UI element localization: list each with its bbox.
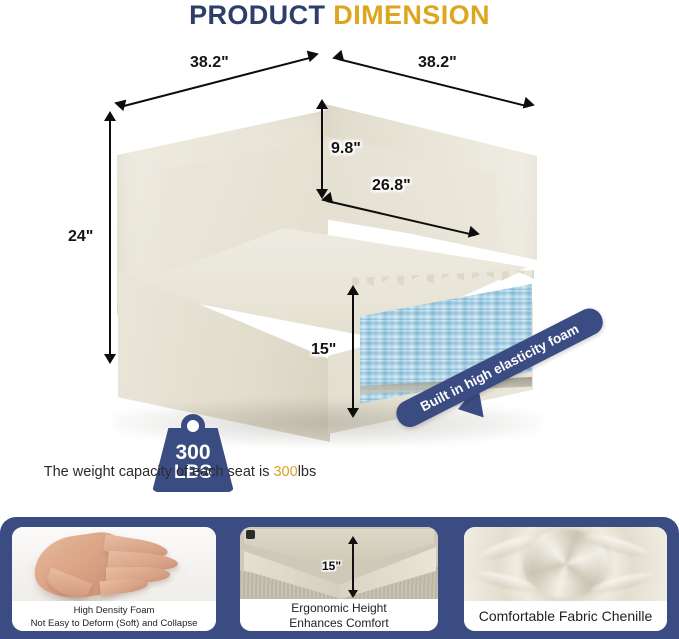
block-corner-marker xyxy=(246,530,255,539)
panel-caption-3-line1: Comfortable Fabric Chenille xyxy=(464,601,667,631)
weight-capacity-caption: The weight capacity of each seat is 300l… xyxy=(0,464,360,480)
arrowhead-width-left-end xyxy=(307,48,321,62)
dim-label-back-height: 9.8" xyxy=(331,140,361,158)
arrowhead-seat-height-top xyxy=(347,285,359,295)
weight-caption-suffix: lbs xyxy=(298,464,317,480)
dim-label-seat-height: 15" xyxy=(311,341,336,359)
arrowhead-width-right-start xyxy=(331,50,345,64)
dim-line-back-height xyxy=(321,107,323,197)
title-part-product: PRODUCT xyxy=(189,0,325,30)
dim-label-seat-depth: 26.8" xyxy=(372,177,411,195)
feature-panel-high-density-foam[interactable]: High Density Foam Not Easy to Deform (So… xyxy=(12,527,216,631)
feature-panels-band: High Density Foam Not Easy to Deform (So… xyxy=(0,517,679,639)
panel-caption-2: Ergonomic Height Enhances Comfort xyxy=(240,599,438,631)
arrowhead-seat-height-bottom xyxy=(347,408,359,418)
arrowhead-back-height-top xyxy=(316,99,328,109)
product-dimension-illustration: 38.2" 38.2" 9.8" 26.8" 24" 15" 300 LBS T… xyxy=(0,32,679,517)
panel-dim-arrow-15in xyxy=(352,543,354,591)
arrowhead-width-left-start xyxy=(113,97,127,111)
dim-label-width-left: 38.2" xyxy=(190,54,229,72)
panel-caption-2-line2: Enhances Comfort xyxy=(240,616,438,631)
dim-line-total-height xyxy=(109,120,111,362)
dim-label-width-right: 38.2" xyxy=(418,54,457,72)
weight-caption-prefix: The weight capacity of each seat is xyxy=(44,464,274,480)
panel-image-hand-on-foam xyxy=(12,527,216,601)
panel-image-chenille-fabric xyxy=(464,527,667,601)
panel-caption-1: High Density Foam Not Easy to Deform (So… xyxy=(12,601,216,631)
page-title: PRODUCT DIMENSION xyxy=(0,0,679,32)
weight-caption-value: 300 xyxy=(273,464,297,480)
feature-panel-fabric-chenille[interactable]: Comfortable Fabric Chenille xyxy=(464,527,667,631)
panel-dim-label-15in: 15" xyxy=(322,559,341,573)
feature-panel-ergonomic-height[interactable]: 15" Ergonomic Height Enhances Comfort xyxy=(240,527,438,631)
arrowhead-width-right-end xyxy=(523,97,537,111)
arrowhead-seat-depth-start xyxy=(320,192,333,206)
weight-icon-handle xyxy=(181,414,205,438)
weight-badge-number: 300 xyxy=(152,442,234,463)
dim-line-seat-height xyxy=(352,294,354,416)
weight-capacity-badge: 300 LBS xyxy=(152,414,234,492)
panel-caption-3: Comfortable Fabric Chenille xyxy=(464,601,667,631)
panel-caption-2-line1: Ergonomic Height xyxy=(240,601,438,616)
panel-caption-1-line1: High Density Foam xyxy=(12,604,216,617)
arrowhead-total-height-bottom xyxy=(104,354,116,364)
dim-label-total-height: 24" xyxy=(68,228,93,246)
title-part-dimension: DIMENSION xyxy=(333,0,490,30)
panel-caption-1-line2: Not Easy to Deform (Soft) and Collapse xyxy=(12,617,216,630)
arrowhead-total-height-top xyxy=(104,111,116,121)
panel-image-foam-block: 15" xyxy=(240,527,438,599)
